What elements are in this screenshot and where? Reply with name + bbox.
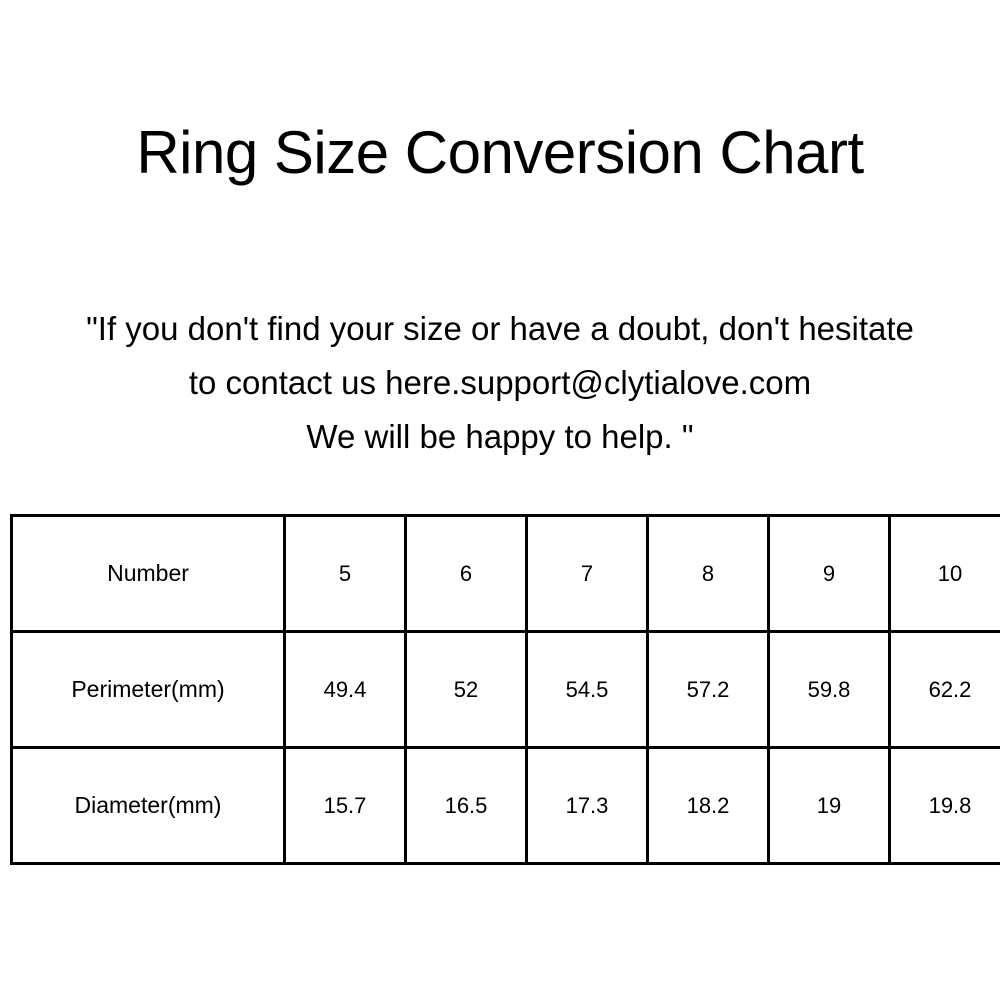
table-row: Diameter(mm) 15.7 16.5 17.3 18.2 19 19.8	[12, 748, 1000, 864]
row-label-number: Number	[12, 516, 285, 632]
page-title: Ring Size Conversion Chart	[0, 118, 1000, 187]
perimeter-value-6: 62.2	[890, 632, 1000, 748]
number-value-5: 9	[769, 516, 890, 632]
perimeter-value-5: 59.8	[769, 632, 890, 748]
number-value-6: 10	[890, 516, 1000, 632]
ring-size-chart-page: Ring Size Conversion Chart "If you don't…	[0, 0, 1000, 1000]
row-label-perimeter: Perimeter(mm)	[12, 632, 285, 748]
table-row: Perimeter(mm) 49.4 52 54.5 57.2 59.8 62.…	[12, 632, 1000, 748]
perimeter-value-3: 54.5	[527, 632, 648, 748]
perimeter-value-4: 57.2	[648, 632, 769, 748]
number-value-1: 5	[285, 516, 406, 632]
diameter-value-6: 19.8	[890, 748, 1000, 864]
perimeter-value-1: 49.4	[285, 632, 406, 748]
diameter-value-1: 15.7	[285, 748, 406, 864]
perimeter-value-2: 52	[406, 632, 527, 748]
intro-paragraph: "If you don't find your size or have a d…	[0, 302, 1000, 464]
intro-line-3: We will be happy to help. "	[0, 410, 1000, 464]
diameter-value-4: 18.2	[648, 748, 769, 864]
row-label-diameter: Diameter(mm)	[12, 748, 285, 864]
table-row: Number 5 6 7 8 9 10	[12, 516, 1000, 632]
diameter-value-2: 16.5	[406, 748, 527, 864]
ring-size-table: Number 5 6 7 8 9 10 Perimeter(mm) 49.4 5…	[10, 514, 1000, 865]
number-value-4: 8	[648, 516, 769, 632]
intro-line-2: to contact us here.support@clytialove.co…	[0, 356, 1000, 410]
diameter-value-5: 19	[769, 748, 890, 864]
intro-line-1: "If you don't find your size or have a d…	[0, 302, 1000, 356]
diameter-value-3: 17.3	[527, 748, 648, 864]
number-value-3: 7	[527, 516, 648, 632]
size-table-container: Number 5 6 7 8 9 10 Perimeter(mm) 49.4 5…	[10, 514, 988, 865]
number-value-2: 6	[406, 516, 527, 632]
